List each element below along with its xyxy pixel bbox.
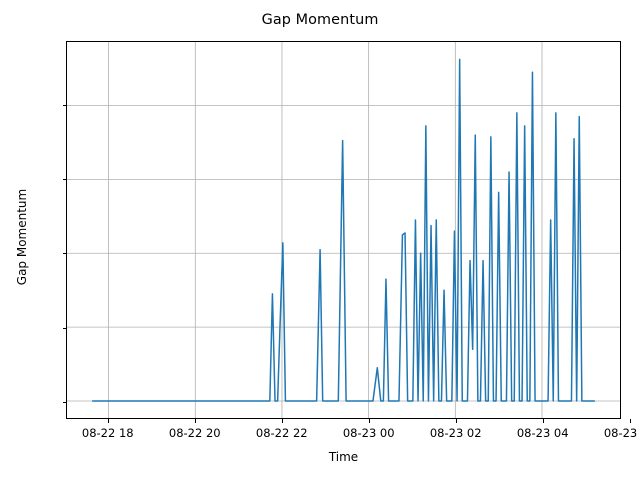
page-title: Gap Momentum — [0, 12, 640, 28]
x-tick-mark — [195, 419, 196, 423]
x-tick-mark — [543, 419, 544, 423]
x-tick-mark — [369, 419, 370, 423]
x-tick-label: 08-22 18 — [82, 426, 134, 440]
data-series-line — [92, 59, 595, 401]
x-tick-label: 08-23 02 — [430, 426, 482, 440]
x-tick-mark — [282, 419, 283, 423]
x-tick-label: 08-22 20 — [169, 426, 221, 440]
plot-svg — [67, 42, 620, 418]
x-axis-label: Time — [66, 450, 621, 464]
x-tick-label: 08-23 06 — [604, 426, 640, 440]
y-axis-label: Gap Momentum — [15, 137, 29, 337]
chart-figure: Gap Momentum 0.00.20.40.60.8 08-22 1808-… — [0, 0, 640, 480]
x-tick-label: 08-22 22 — [256, 426, 308, 440]
plot-area — [66, 41, 621, 419]
x-tick-mark — [108, 419, 109, 423]
x-tick-label: 08-23 04 — [517, 426, 569, 440]
x-tick-mark — [630, 419, 631, 423]
x-tick-label: 08-23 00 — [343, 426, 395, 440]
x-tick-mark — [456, 419, 457, 423]
